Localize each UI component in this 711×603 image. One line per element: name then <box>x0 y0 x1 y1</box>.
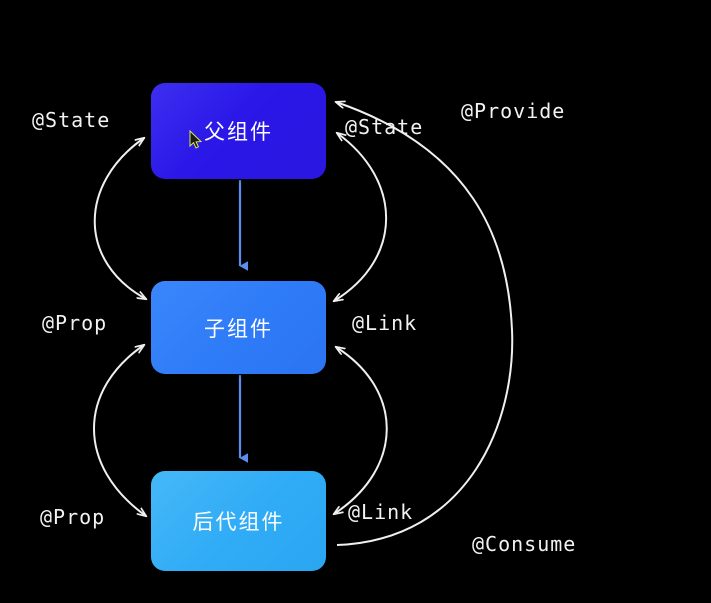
edge-prop-lower-curve <box>94 345 146 516</box>
edge-label-consume: @Consume <box>472 532 576 556</box>
edge-label-prop-upper: @Prop <box>42 311 107 335</box>
node-descendant-component[interactable]: 后代组件 <box>151 471 326 571</box>
node-parent-label: 父组件 <box>204 116 273 146</box>
diagram-canvas: 父组件 子组件 后代组件 @State @State @Provide @Pro… <box>0 0 711 603</box>
edge-label-link-upper: @Link <box>352 311 417 335</box>
edge-label-state-left: @State <box>32 108 110 132</box>
node-child-label: 子组件 <box>204 313 273 343</box>
edge-state-right-curve <box>334 133 386 301</box>
node-parent-component[interactable]: 父组件 <box>151 83 326 179</box>
node-child-component[interactable]: 子组件 <box>151 281 326 374</box>
edge-label-provide: @Provide <box>461 99 565 123</box>
edge-link-lower-curve <box>334 347 387 514</box>
edge-state-left-curve <box>95 138 146 299</box>
node-descendant-label: 后代组件 <box>193 506 285 536</box>
edge-label-link-lower: @Link <box>348 500 413 524</box>
edge-label-prop-lower: @Prop <box>40 505 105 529</box>
edge-label-state-right: @State <box>345 115 423 139</box>
